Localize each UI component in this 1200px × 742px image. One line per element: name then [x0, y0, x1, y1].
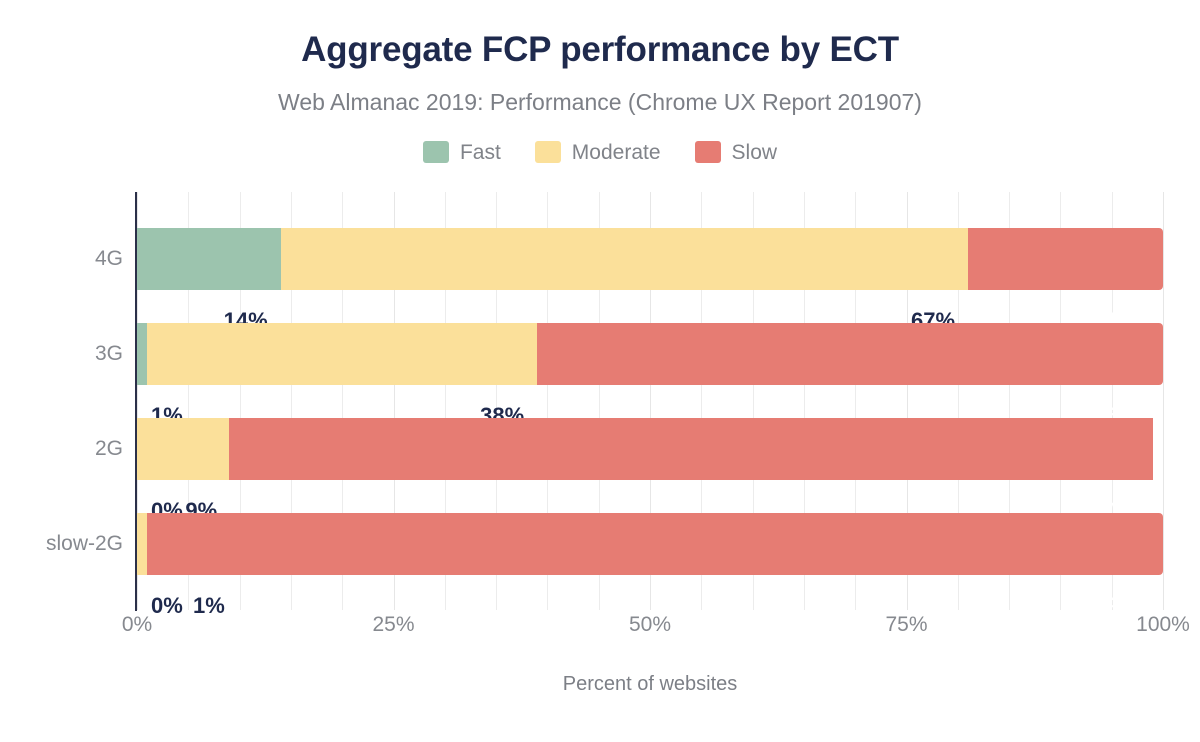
bar-rows: 14%67%19%1%38%61%0%9%90%0%1%99% [137, 192, 1163, 610]
x-tick-100pct: 100% [1136, 613, 1190, 637]
bar-track [137, 228, 1163, 290]
x-axis-tick-labels: 0%25%50%75%100% [0, 613, 1200, 643]
bar-segment-slow[interactable] [537, 323, 1163, 385]
bar-segment-moderate[interactable] [137, 513, 147, 575]
y-tick-3g: 3G [0, 323, 123, 385]
legend-label-slow: Slow [732, 142, 778, 163]
y-tick-2g: 2G [0, 418, 123, 480]
bar-segment-moderate[interactable] [147, 323, 537, 385]
x-tick-25pct: 25% [372, 613, 414, 637]
y-tick-slow-2g: slow-2G [0, 513, 123, 575]
bar-segment-slow[interactable] [147, 513, 1163, 575]
x-tick-75pct: 75% [885, 613, 927, 637]
legend-item-fast[interactable]: Fast [423, 141, 501, 163]
legend-item-slow[interactable]: Slow [695, 141, 778, 163]
legend-swatch-slow [695, 141, 721, 163]
plot-area: 14%67%19%1%38%61%0%9%90%0%1%99% [137, 192, 1163, 610]
chart-title: Aggregate FCP performance by ECT [0, 30, 1200, 70]
x-tick-50pct: 50% [629, 613, 671, 637]
bar-segment-slow[interactable] [968, 228, 1163, 290]
bar-segment-moderate[interactable] [137, 418, 229, 480]
bar-segment-moderate[interactable] [281, 228, 968, 290]
y-tick-4g: 4G [0, 228, 123, 290]
x-axis-title: Percent of websites [137, 673, 1163, 696]
bar-row-3g[interactable]: 1%38%61% [137, 323, 1163, 385]
bar-segment-slow[interactable] [229, 418, 1152, 480]
bar-track [137, 323, 1163, 385]
bar-row-slow-2g[interactable]: 0%1%99% [137, 513, 1163, 575]
chart-legend: Fast Moderate Slow [0, 141, 1200, 163]
chart-subtitle: Web Almanac 2019: Performance (Chrome UX… [0, 89, 1200, 117]
y-axis-tick-labels: 4G 3G 2G slow-2G [0, 192, 123, 610]
x-tick-0pct: 0% [122, 613, 152, 637]
gridline-100 [1163, 192, 1164, 610]
bar-row-2g[interactable]: 0%9%90% [137, 418, 1163, 480]
legend-swatch-moderate [535, 141, 561, 163]
legend-label-moderate: Moderate [572, 142, 661, 163]
legend-item-moderate[interactable]: Moderate [535, 141, 661, 163]
legend-label-fast: Fast [460, 142, 501, 163]
legend-swatch-fast [423, 141, 449, 163]
bar-track [137, 513, 1163, 575]
chart-container: Aggregate FCP performance by ECT Web Alm… [0, 0, 1200, 742]
bar-segment-fast[interactable] [137, 323, 147, 385]
bar-row-4g[interactable]: 14%67%19% [137, 228, 1163, 290]
bar-track [137, 418, 1163, 480]
bar-segment-fast[interactable] [137, 228, 281, 290]
